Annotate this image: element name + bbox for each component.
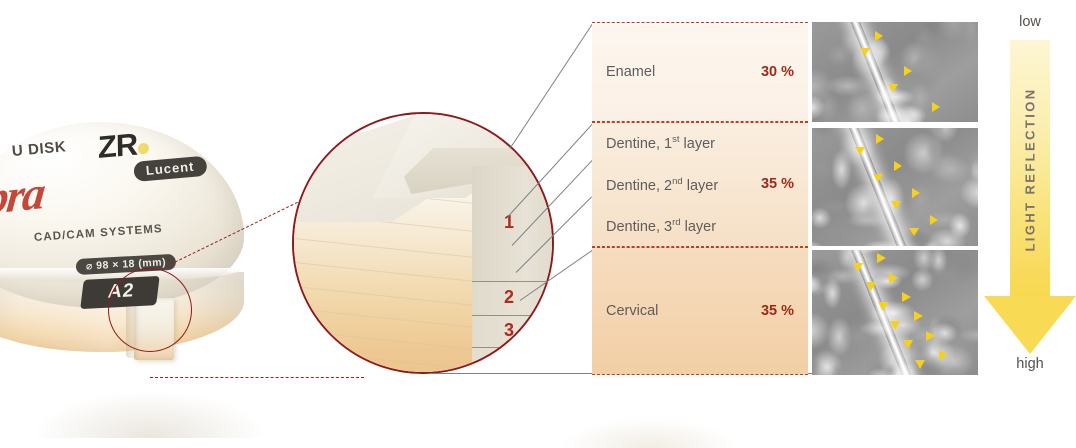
scatter-arrow-icon: [932, 102, 940, 112]
scatter-arrow-icon: [876, 134, 884, 144]
infographic-root: U DISK ZR Lucent pra CAD/CAM SYSTEMS ⌀ 9…: [0, 0, 1076, 440]
block-side-face: 12345: [472, 166, 554, 374]
panel-row-value: 35 %: [761, 303, 794, 319]
scatter-arrow-icon: [930, 215, 938, 225]
scatter-arrow-icon: [875, 31, 883, 41]
panel-enamel: Enamel30 %: [592, 22, 808, 122]
panel-row-ordinal: nd: [672, 176, 683, 187]
panel-row: Dentine, 3rd layer: [606, 217, 794, 235]
block-layer-number: 3: [472, 320, 546, 341]
panel-cervical: Cervical35 %: [592, 247, 808, 375]
scatter-arrow-icon: [866, 282, 876, 291]
scatter-arrow-icon: [888, 84, 898, 92]
scatter-arrow-icon: [860, 48, 870, 56]
layer-info-panels: Enamel30 %Dentine, 1st layerDentine, 2nd…: [592, 22, 808, 375]
panel-row-ordinal: rd: [672, 217, 680, 228]
legend-arrow-head-icon: [984, 296, 1076, 354]
scatter-arrow-icon: [853, 263, 863, 272]
scatter-arrow-icon: [878, 302, 888, 311]
panel-row-label: Dentine, 3rd layer: [606, 217, 716, 235]
disk-script-word: pra: [0, 166, 46, 226]
scatter-arrow-icon: [877, 253, 886, 263]
panel-row: Dentine, 2nd layer35 %: [606, 176, 794, 194]
scatter-arrow-icon: [909, 228, 919, 236]
block-layer-line: [292, 258, 473, 282]
cervical-micrograph: [812, 250, 978, 375]
scatter-arrow-icon: [912, 188, 920, 198]
scatter-arrow-icon: [914, 311, 923, 321]
micrograph-texture: [812, 22, 978, 122]
scatter-arrow-icon: [873, 174, 883, 182]
scatter-arrow-icon: [889, 273, 898, 283]
panel-rows: Cervical35 %: [606, 303, 794, 319]
block-layer-number: 4: [472, 352, 546, 373]
light-reflection-legend: low LIGHT REFLECTION high: [984, 14, 1076, 376]
block-layer-line: [292, 234, 473, 258]
disk-reflection: [35, 392, 265, 438]
dentine-micrograph: [812, 128, 978, 246]
block-layer-band: 1: [472, 166, 554, 282]
block-layer-line: [292, 304, 473, 328]
block-layer-line: [292, 282, 473, 306]
panel-row: Dentine, 1st layer: [606, 134, 794, 152]
panel-row-value: 30 %: [761, 64, 794, 80]
block-layer-band: 3: [472, 316, 554, 348]
scatter-arrow-icon: [939, 350, 948, 360]
legend-axis-title-text: LIGHT REFLECTION: [1023, 87, 1038, 251]
tooth-silhouette: [560, 418, 740, 448]
scatter-arrow-icon: [926, 331, 935, 341]
panel-dentine: Dentine, 1st layerDentine, 2nd layer35 %…: [592, 122, 808, 247]
disk-zoom-marker-circle: [108, 268, 192, 352]
block-layer-band: 2: [472, 282, 554, 316]
enamel-micrograph: [812, 22, 978, 122]
disk-brand-zr-text: ZR: [98, 127, 138, 166]
legend-high-label: high: [984, 356, 1076, 372]
disk-brand-zr: ZR: [98, 125, 150, 166]
panel-row-label: Enamel: [606, 64, 655, 80]
panel-row-label: Cervical: [606, 303, 658, 319]
scatter-arrow-icon: [890, 321, 900, 330]
block-layer-band: 4: [472, 348, 554, 374]
panel-row-label: Dentine, 2nd layer: [606, 176, 718, 194]
legend-low-label: low: [984, 14, 1076, 30]
scatter-arrow-icon: [891, 201, 901, 209]
scatter-arrow-icon: [904, 66, 912, 76]
scatter-arrow-icon: [903, 340, 913, 349]
panel-row: Enamel30 %: [606, 64, 794, 80]
scatter-arrow-icon: [915, 360, 925, 369]
block-layer-line: [292, 326, 473, 350]
legend-axis-title: LIGHT REFLECTION: [1010, 40, 1050, 298]
panel-row: Cervical35 %: [606, 303, 794, 319]
scatter-arrow-icon: [894, 161, 902, 171]
scatter-arrow-icon: [902, 292, 911, 302]
panel-rows: Enamel30 %: [606, 64, 794, 80]
disk-brand-dot-icon: [138, 143, 149, 155]
panel-row-ordinal: st: [672, 134, 679, 145]
panel-row-label: Dentine, 1st layer: [606, 134, 715, 152]
scatter-arrow-icon: [855, 147, 865, 155]
leader-line-bottom: [150, 377, 364, 378]
panel-row-value: 35 %: [761, 176, 794, 192]
panel-rows: Dentine, 1st layerDentine, 2nd layer35 %…: [606, 134, 794, 235]
